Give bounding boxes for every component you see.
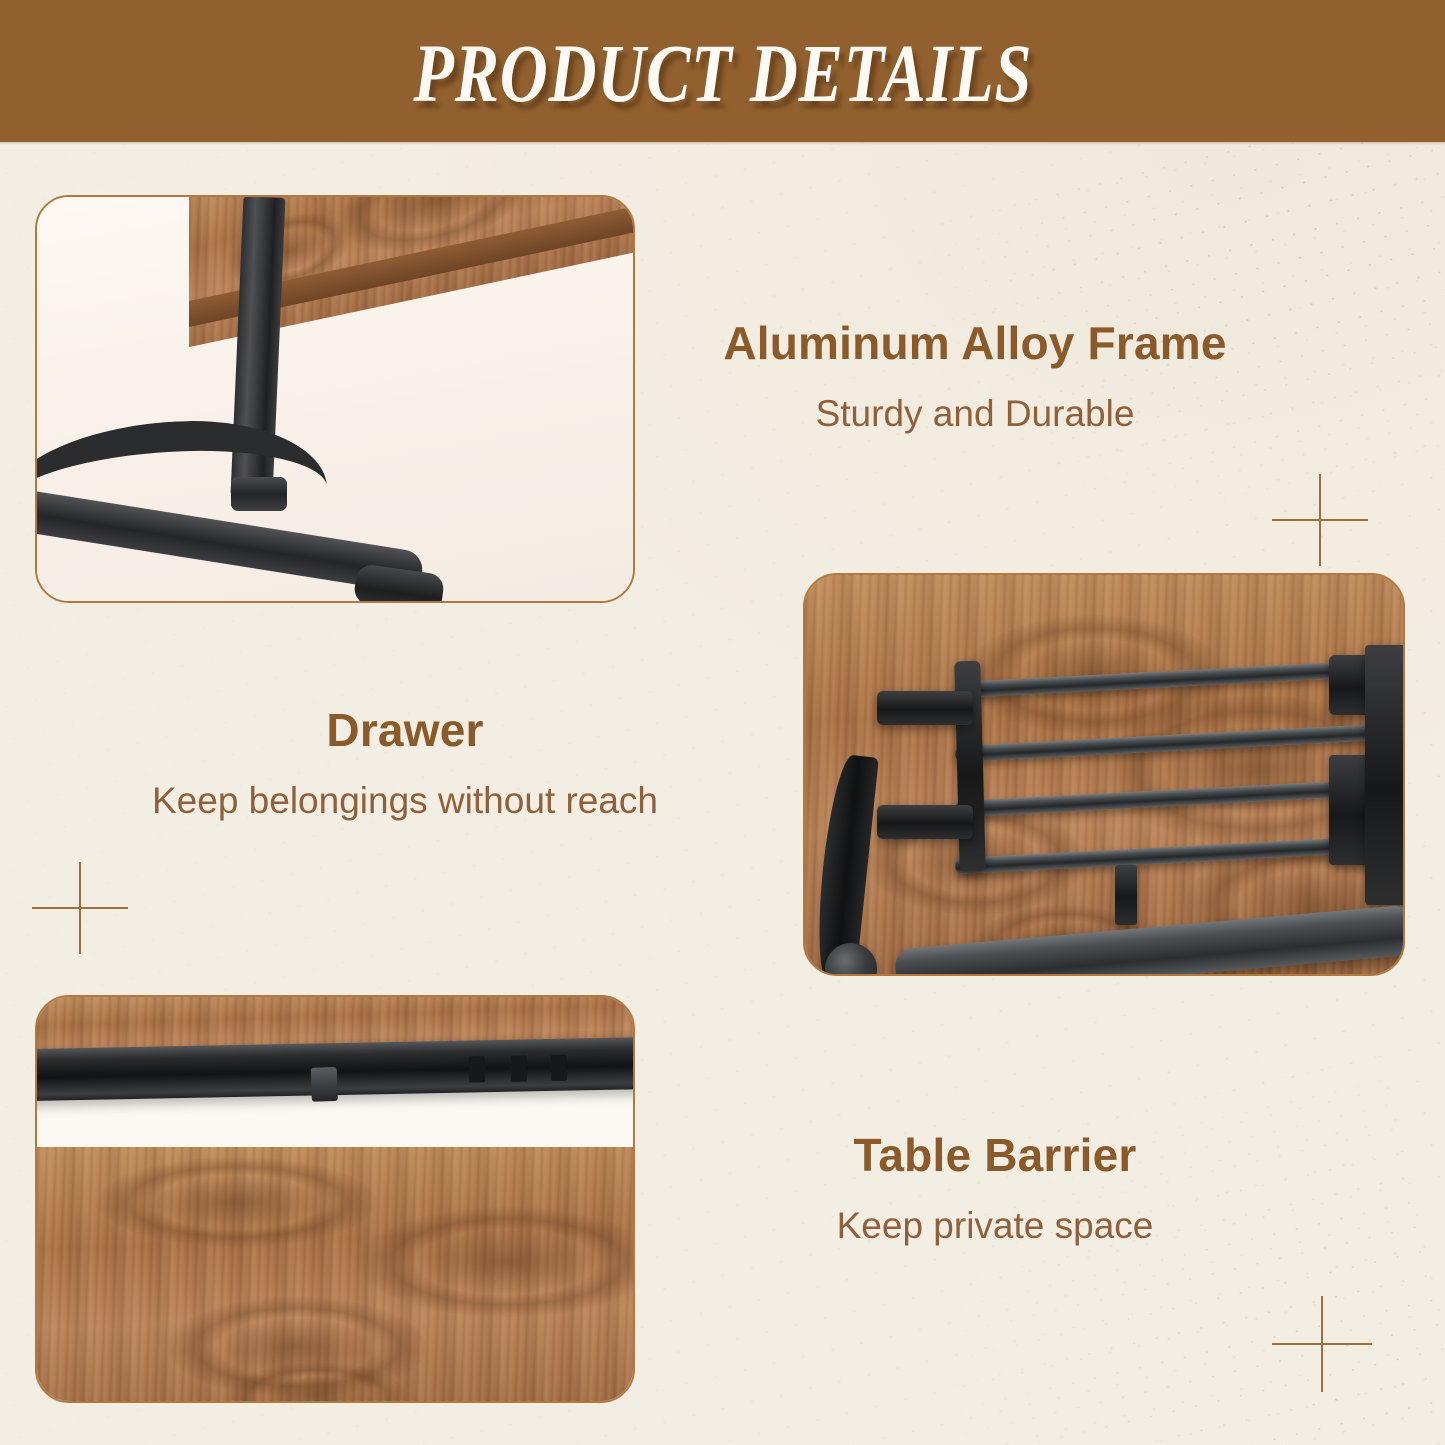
cross-decoration-icon	[1272, 1296, 1372, 1392]
drawer-side-plate	[1365, 645, 1403, 905]
feature-title: Table Barrier	[750, 1130, 1240, 1182]
feature-table-barrier: Table Barrier Keep private space	[750, 1130, 1240, 1248]
panel-frame-image	[37, 197, 633, 601]
header-underline	[0, 142, 1445, 145]
feature-subtitle: Keep belongings without reach	[100, 779, 710, 823]
feature-aluminum-alloy-frame: Aluminum Alloy Frame Sturdy and Durable	[680, 318, 1270, 436]
drawer-bracket-arm-bottom	[877, 805, 973, 839]
barrier-notch-2	[511, 1055, 527, 1081]
drawer-bracket-arm-top	[877, 691, 973, 725]
panel-barrier-image	[37, 997, 633, 1401]
barrier-bracket	[311, 1067, 338, 1102]
cross-decoration-icon	[32, 862, 128, 954]
panel-drawer-image	[805, 575, 1403, 974]
panel-barrier-closeup	[35, 995, 635, 1403]
product-details-infographic: PRODUCT DETAILS	[0, 0, 1445, 1445]
page-title: PRODUCT DETAILS	[413, 25, 1032, 121]
panel-frame-closeup	[35, 195, 635, 603]
barrier-notch-3	[551, 1055, 567, 1081]
feature-drawer: Drawer Keep belongings without reach	[100, 705, 710, 823]
feature-title: Aluminum Alloy Frame	[680, 318, 1270, 370]
panel-drawer-closeup	[803, 573, 1405, 976]
center-bracket	[1115, 865, 1137, 925]
header-banner: PRODUCT DETAILS	[0, 0, 1445, 142]
feature-subtitle: Keep private space	[750, 1204, 1240, 1248]
feature-title: Drawer	[100, 705, 710, 757]
barrier-notch-1	[469, 1056, 485, 1082]
desktop-surface	[37, 1147, 633, 1401]
feature-subtitle: Sturdy and Durable	[680, 392, 1270, 436]
cross-decoration-icon	[1272, 474, 1368, 566]
